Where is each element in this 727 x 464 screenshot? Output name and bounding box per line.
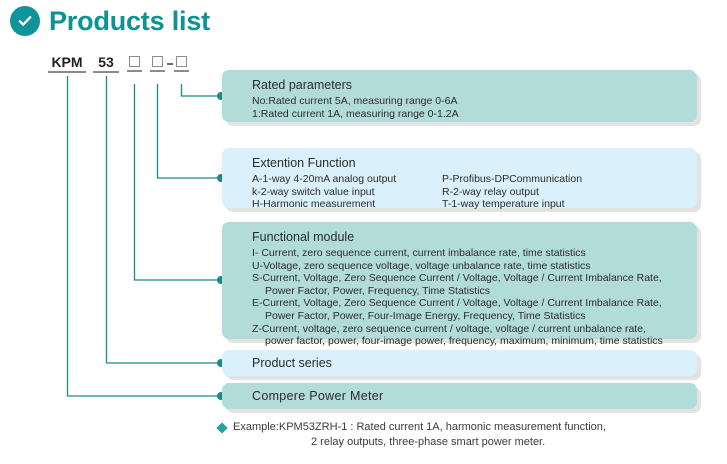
box-line: P-Profibus-DPCommunication — [442, 173, 697, 186]
box-line: T-1-way temperature input — [442, 198, 697, 211]
code-part-series: 53 — [93, 54, 119, 73]
extension-column-right: P-Profibus-DPCommunication R-2-way relay… — [442, 173, 697, 211]
footnote-line-1: Example:KPM53ZRH-1 : Rated current 1A, h… — [233, 420, 606, 435]
footnote-line-2: 2 relay outputs, three-phase smart power… — [233, 435, 606, 450]
info-box-extention-function: Extention Function A-1-way 4-20mA analog… — [222, 148, 697, 208]
example-footnote: Example:KPM53ZRH-1 : Rated current 1A, h… — [218, 420, 606, 450]
footnote-text: Example:KPM53ZRH-1 : Rated current 1A, h… — [233, 420, 606, 450]
extension-columns: A-1-way 4-20mA analog output k-2-way swi… — [252, 173, 697, 211]
box-line: H-Harmonic measurement — [252, 198, 442, 211]
code-rule — [48, 71, 86, 73]
box-line: Power Factor, Power, Frequency, Time Sta… — [252, 285, 697, 298]
box-line: U-Voltage, zero sequence voltage, voltag… — [252, 260, 697, 273]
box-title: Product series — [222, 356, 332, 370]
code-rule — [127, 70, 142, 72]
code-rule — [150, 70, 165, 72]
code-placeholder-box — [129, 56, 140, 67]
box-line: No:Rated current 5A, measuring range 0-6… — [252, 95, 697, 108]
page-header: Products list — [10, 6, 210, 36]
code-part-rated — [174, 54, 189, 72]
info-box-functional-module: Functional module I- Current, zero seque… — [222, 222, 697, 339]
box-line: Power Factor, Power, Four-Image Energy, … — [252, 310, 697, 323]
extension-column-left: A-1-way 4-20mA analog output k-2-way swi… — [252, 173, 442, 211]
box-line: R-2-way relay output — [442, 186, 697, 199]
info-box-compere-power-meter: Compere Power Meter — [222, 383, 697, 409]
info-box-product-series: Product series — [222, 350, 697, 376]
code-placeholder-box — [176, 56, 187, 67]
page-title: Products list — [49, 8, 210, 35]
code-part-prefix: KPM — [48, 54, 86, 73]
code-part-extension — [150, 54, 165, 72]
box-line: k-2-way switch value input — [252, 186, 442, 199]
code-prefix-label: KPM — [51, 54, 82, 70]
box-line: A-1-way 4-20mA analog output — [252, 173, 442, 186]
box-title: Rated parameters — [252, 77, 697, 94]
diamond-bullet-icon — [216, 422, 227, 433]
code-separator-dash — [167, 63, 173, 65]
code-rule — [174, 70, 189, 72]
box-line: E-Current, Voltage, Zero Sequence Curren… — [252, 297, 697, 310]
info-box-rated-parameters: Rated parameters No:Rated current 5A, me… — [222, 70, 697, 122]
box-line: I- Current, zero sequence current, curre… — [252, 247, 697, 260]
box-line: power factor, power, four-image power, f… — [252, 335, 697, 348]
box-line: S-Current, Voltage, Zero Sequence Curren… — [252, 272, 697, 285]
code-part-module — [127, 54, 142, 72]
box-title: Functional module — [252, 229, 697, 246]
box-title: Extention Function — [252, 155, 697, 172]
code-rule — [93, 71, 119, 73]
box-title: Compere Power Meter — [222, 389, 383, 403]
code-placeholder-box — [152, 56, 163, 67]
check-circle-icon — [10, 6, 40, 36]
box-line: 1:Rated current 1A, measuring range 0-1.… — [252, 108, 697, 121]
box-line: Z-Current, voltage, zero sequence curren… — [252, 323, 697, 336]
code-series-label: 53 — [98, 54, 114, 70]
